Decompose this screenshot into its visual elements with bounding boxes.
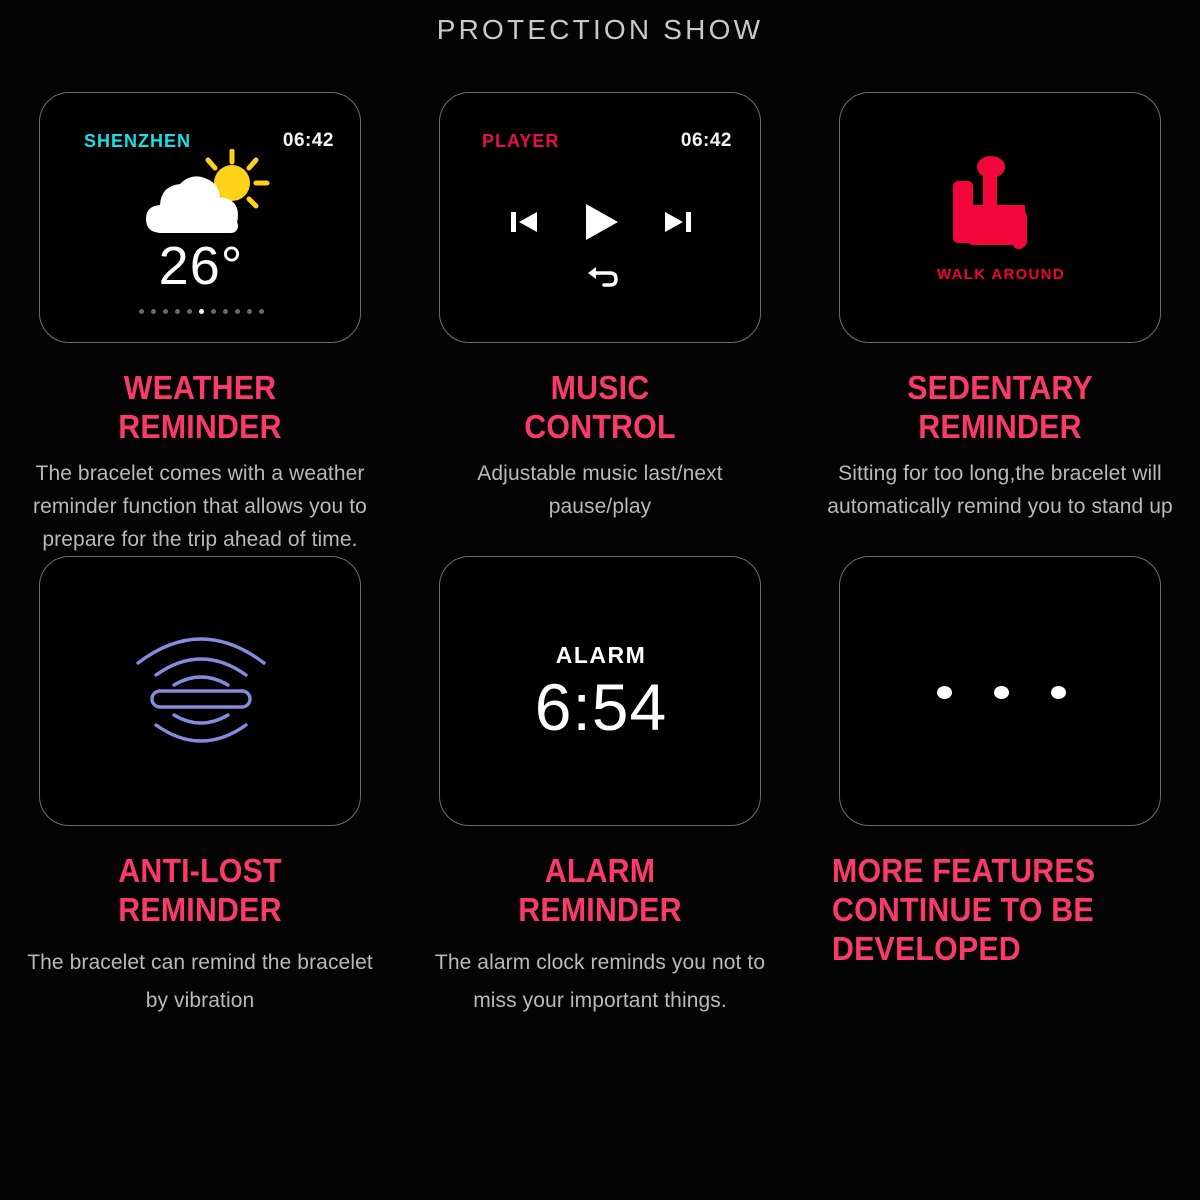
feature-heading: MUSIC CONTROL [440, 369, 760, 447]
feature-heading-line1: MUSIC [440, 369, 760, 408]
feature-card-music-control: PLAYER 06:42 [400, 92, 800, 556]
watch-screen-alarm[interactable]: ALARM 6:54 [439, 556, 761, 826]
feature-heading-line2: REMINDER [40, 408, 360, 447]
weather-time-label: 06:42 [283, 130, 334, 152]
feature-heading-line1: ANTI-LOST [40, 852, 360, 891]
page-indicator-dots[interactable] [40, 309, 361, 314]
watch-screen-sedentary[interactable]: WALK AROUND [839, 92, 1161, 343]
feature-description: The bracelet can remind the bracelet by … [26, 944, 374, 1020]
feature-heading: WEATHER REMINDER [40, 369, 360, 447]
feature-heading-line2: CONTROL [440, 408, 760, 447]
play-icon[interactable] [582, 201, 620, 248]
feature-heading: ANTI-LOST REMINDER [40, 852, 360, 930]
feature-heading-line1: WEATHER [40, 369, 360, 408]
next-track-icon[interactable] [664, 207, 692, 242]
watch-screen-more-features[interactable] [839, 556, 1161, 826]
seated-person-icon [949, 155, 1053, 258]
feature-card-sedentary-reminder: WALK AROUND SEDENTARY REMINDER Sitting f… [800, 92, 1200, 556]
page-dot [235, 309, 240, 314]
sedentary-content: WALK AROUND [840, 93, 1161, 343]
page-dot [223, 309, 228, 314]
feature-grid: SHENZHEN 06:42 [0, 92, 1200, 1021]
feature-heading-line2: REMINDER [40, 891, 360, 930]
feature-heading-line1: MORE FEATURES [832, 852, 1147, 891]
alarm-time: 6:54 [535, 673, 667, 742]
page-dot [211, 309, 216, 314]
ellipsis-dot [937, 686, 952, 699]
caption-weather-reminder: WEATHER REMINDER The bracelet comes with… [26, 369, 374, 556]
feature-description: Adjustable music last/next pause/play [426, 457, 774, 523]
player-back-row [440, 265, 761, 296]
sedentary-label: WALK AROUND [937, 266, 1065, 283]
watch-screen-weather[interactable]: SHENZHEN 06:42 [39, 92, 361, 343]
feature-heading: MORE FEATURES CONTINUE TO BE DEVELOPED [832, 852, 1147, 969]
page-dot [175, 309, 180, 314]
back-arrow-icon[interactable] [583, 265, 619, 296]
feature-heading-line3: DEVELOPED [832, 930, 1147, 969]
alarm-label: ALARM [556, 642, 647, 669]
feature-card-anti-lost-reminder: ANTI-LOST REMINDER The bracelet can remi… [0, 556, 400, 1020]
vibration-waves-icon [126, 625, 276, 760]
page-title: PROTECTION SHOW [0, 14, 1200, 46]
weather-temperature: 26° [40, 235, 361, 297]
player-controls [440, 201, 761, 248]
feature-description: The bracelet comes with a weather remind… [26, 457, 374, 557]
page-dot [139, 309, 144, 314]
ellipsis-dot [994, 686, 1009, 699]
protection-show-page: PROTECTION SHOW SHENZHEN 06:42 [0, 0, 1200, 1200]
player-label: PLAYER [482, 131, 559, 152]
page-dot-active [199, 309, 204, 314]
page-dot [163, 309, 168, 314]
caption-alarm-reminder: ALARM REMINDER The alarm clock reminds y… [426, 852, 774, 1020]
player-time-label: 06:42 [681, 130, 732, 152]
caption-anti-lost-reminder: ANTI-LOST REMINDER The bracelet can remi… [26, 852, 374, 1020]
watch-screen-vibration[interactable] [39, 556, 361, 826]
feature-description: The alarm clock reminds you not to miss … [426, 944, 774, 1020]
vibration-content [40, 557, 361, 826]
page-dot [187, 309, 192, 314]
caption-sedentary-reminder: SEDENTARY REMINDER Sitting for too long,… [826, 369, 1174, 523]
feature-heading-line2: REMINDER [440, 891, 760, 930]
watch-screen-player[interactable]: PLAYER 06:42 [439, 92, 761, 343]
ellipsis-icon [840, 557, 1161, 826]
feature-heading-line2: REMINDER [840, 408, 1160, 447]
feature-heading: ALARM REMINDER [440, 852, 760, 930]
sun-behind-cloud-icon [128, 149, 278, 241]
feature-heading-line1: ALARM [440, 852, 760, 891]
page-dot [259, 309, 264, 314]
previous-track-icon[interactable] [510, 207, 538, 242]
feature-heading-line1: SEDENTARY [840, 369, 1160, 408]
caption-music-control: MUSIC CONTROL Adjustable music last/next… [426, 369, 774, 523]
ellipsis-dot [1051, 686, 1066, 699]
caption-more-features: MORE FEATURES CONTINUE TO BE DEVELOPED [826, 852, 1174, 969]
page-dot [151, 309, 156, 314]
feature-heading: SEDENTARY REMINDER [840, 369, 1160, 447]
alarm-content: ALARM 6:54 [440, 557, 761, 826]
feature-card-alarm-reminder: ALARM 6:54 ALARM REMINDER The alarm cloc… [400, 556, 800, 1020]
page-dot [247, 309, 252, 314]
feature-card-more-features: MORE FEATURES CONTINUE TO BE DEVELOPED [800, 556, 1200, 1020]
feature-card-weather-reminder: SHENZHEN 06:42 [0, 92, 400, 556]
feature-description: Sitting for too long,the bracelet will a… [826, 457, 1174, 523]
feature-heading-line2: CONTINUE TO BE [832, 891, 1147, 930]
